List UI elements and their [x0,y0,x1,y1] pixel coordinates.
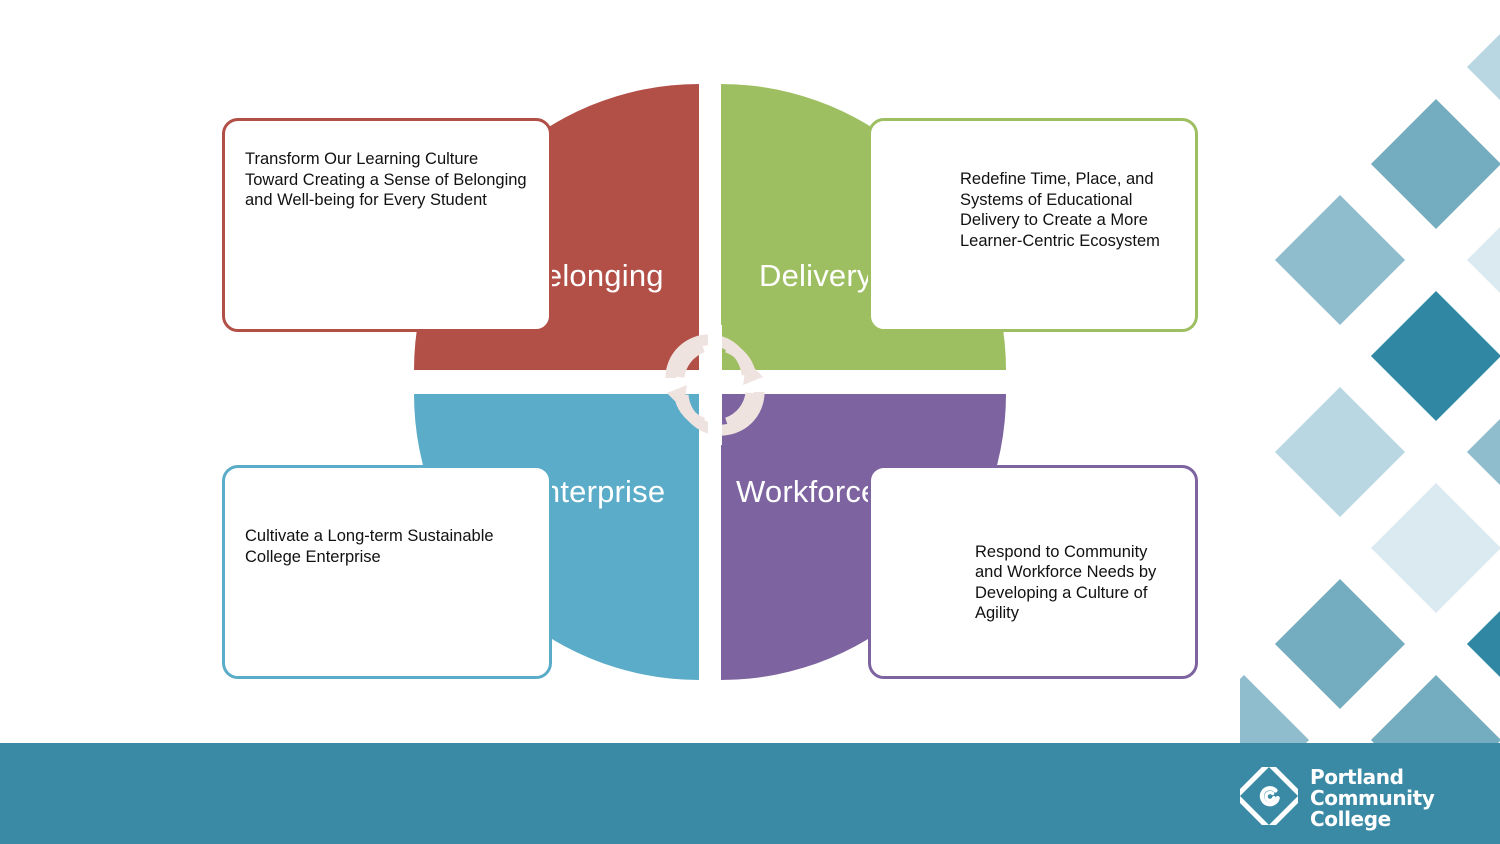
decorative-diamond [1275,579,1405,709]
quadrant-label-delivery: Delivery [759,258,873,294]
pcc-wordmark: Portland Community College [1310,767,1434,830]
callout-workforce-text: Respond to Community and Workforce Needs… [975,542,1175,624]
decorative-diamond [1371,675,1500,750]
diamond-pattern-decoration [1240,0,1500,750]
decorative-diamond [1371,483,1500,613]
decorative-diamond [1275,195,1405,325]
decorative-diamond [1467,195,1500,325]
decorative-diamond [1467,579,1500,709]
callout-belonging-text: Transform Our Learning Culture Toward Cr… [245,149,529,211]
quadrant-label-workforce: Workforce [736,474,878,510]
decorative-diamond [1275,387,1405,517]
banner-title: Strategic Areas of Focus [0,0,1500,101]
slide-canvas: Belonging Delivery Enterprise Workforce [0,0,1500,844]
decorative-diamond [1371,291,1500,421]
decorative-diamond [1467,387,1500,517]
callout-belonging[interactable]: Transform Our Learning Culture Toward Cr… [222,118,552,332]
callout-delivery[interactable]: Redefine Time, Place, and Systems of Edu… [868,118,1198,332]
decorative-diamond [1240,675,1309,750]
decorative-diamond [1371,99,1500,229]
pcc-logo: Portland Community College [1240,758,1480,838]
pcc-diamond-spiral-icon [1240,767,1298,830]
callout-delivery-text: Redefine Time, Place, and Systems of Edu… [960,169,1175,251]
callout-enterprise[interactable]: Cultivate a Long-term Sustainable Colleg… [222,465,552,679]
callout-workforce[interactable]: Respond to Community and Workforce Needs… [868,465,1198,679]
callout-enterprise-text: Cultivate a Long-term Sustainable Colleg… [245,526,529,567]
